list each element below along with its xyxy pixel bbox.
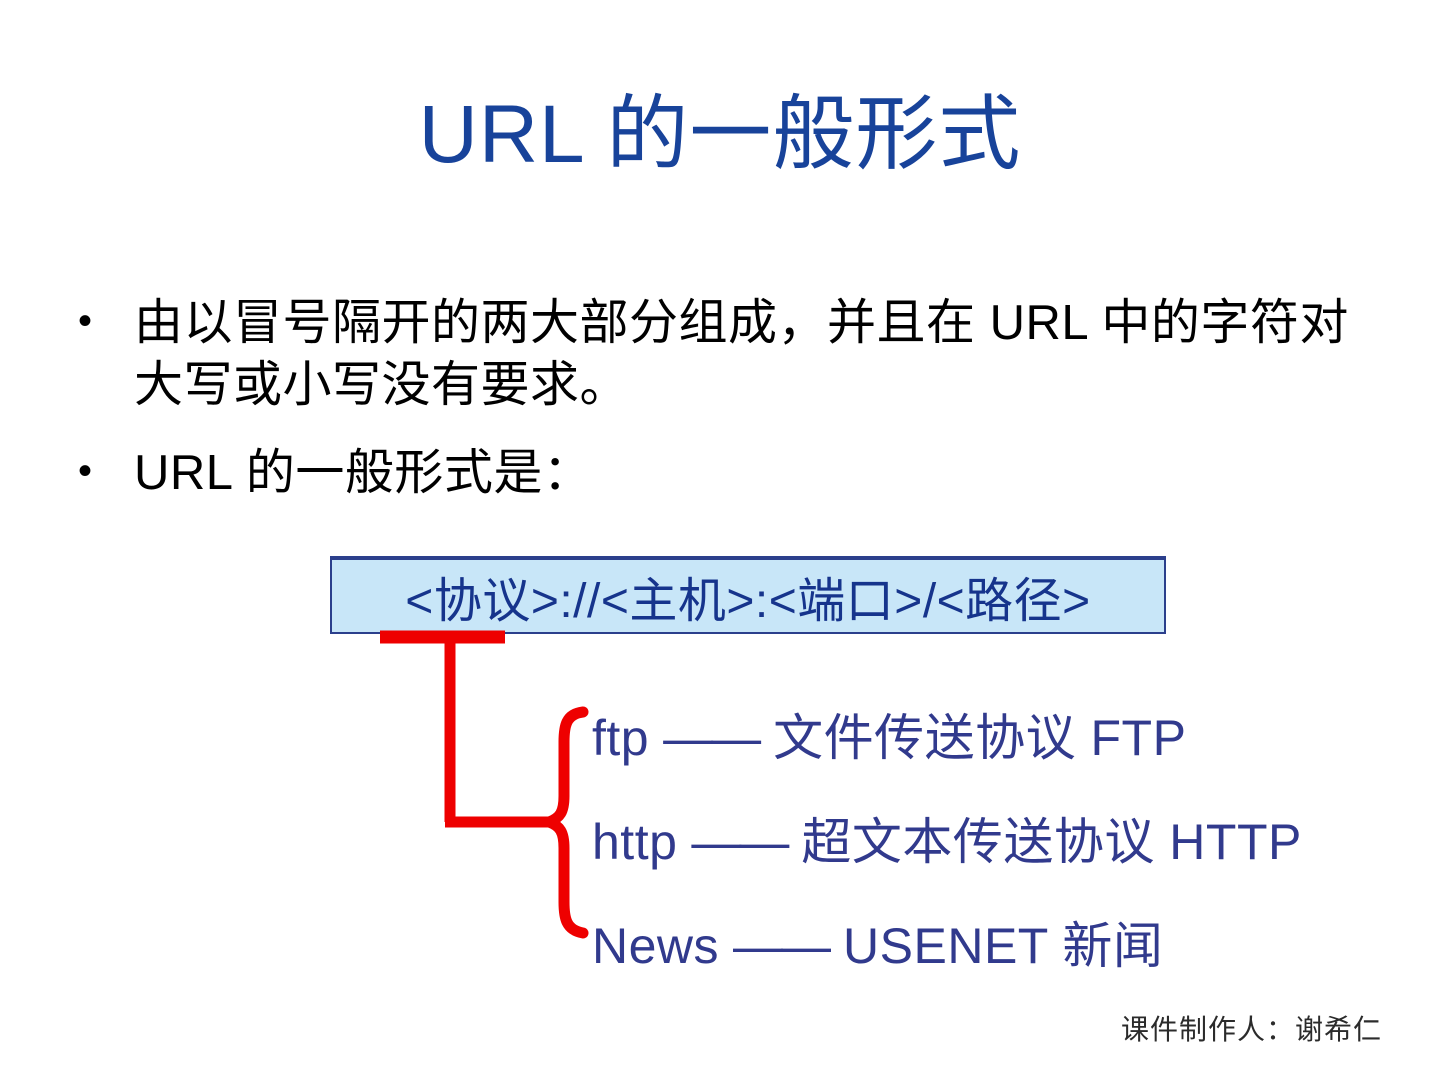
page-title: URL 的一般形式 [0,92,1440,178]
url-syntax-box: <协议>://<主机>:<端口>/<路径> [330,556,1166,634]
protocol-description-ftp: 文件传送协议 FTP [773,713,1186,763]
footer-credit: 课件制作人：谢希仁 [1121,1008,1382,1048]
protocol-row-news: News —— USENET 新闻 [592,894,1412,998]
bullet-marker-icon: • [78,442,134,500]
protocol-name-http: http [592,817,677,867]
protocol-dash: —— [733,921,829,971]
list-item: • 由以冒号隔开的两大部分组成，并且在 URL 中的字符对大写或小写没有要求。 [78,292,1378,416]
list-item: • URL 的一般形式是： [78,442,1378,504]
protocol-name-ftp: ftp [592,713,649,763]
bullet-text-1: 由以冒号隔开的两大部分组成，并且在 URL 中的字符对大写或小写没有要求。 [134,292,1378,416]
protocol-dash: —— [691,817,787,867]
protocol-list: ftp —— 文件传送协议 FTP http —— 超文本传送协议 HTTP N… [592,686,1412,998]
url-syntax-text: <协议>://<主机>:<端口>/<路径> [405,561,1090,631]
bullet-list: • 由以冒号隔开的两大部分组成，并且在 URL 中的字符对大写或小写没有要求。 … [78,292,1378,515]
curly-brace-icon [549,712,583,933]
protocol-description-news: USENET 新闻 [843,921,1163,971]
protocol-description-http: 超文本传送协议 HTTP [801,817,1301,867]
protocol-name-news: News [592,921,719,971]
protocol-row-ftp: ftp —— 文件传送协议 FTP [592,686,1412,790]
protocol-row-http: http —— 超文本传送协议 HTTP [592,790,1412,894]
bullet-text-2: URL 的一般形式是： [134,442,1378,504]
slide-canvas: URL 的一般形式 • 由以冒号隔开的两大部分组成，并且在 URL 中的字符对大… [0,0,1440,1080]
protocol-dash: —— [663,713,759,763]
bullet-marker-icon: • [78,292,134,350]
